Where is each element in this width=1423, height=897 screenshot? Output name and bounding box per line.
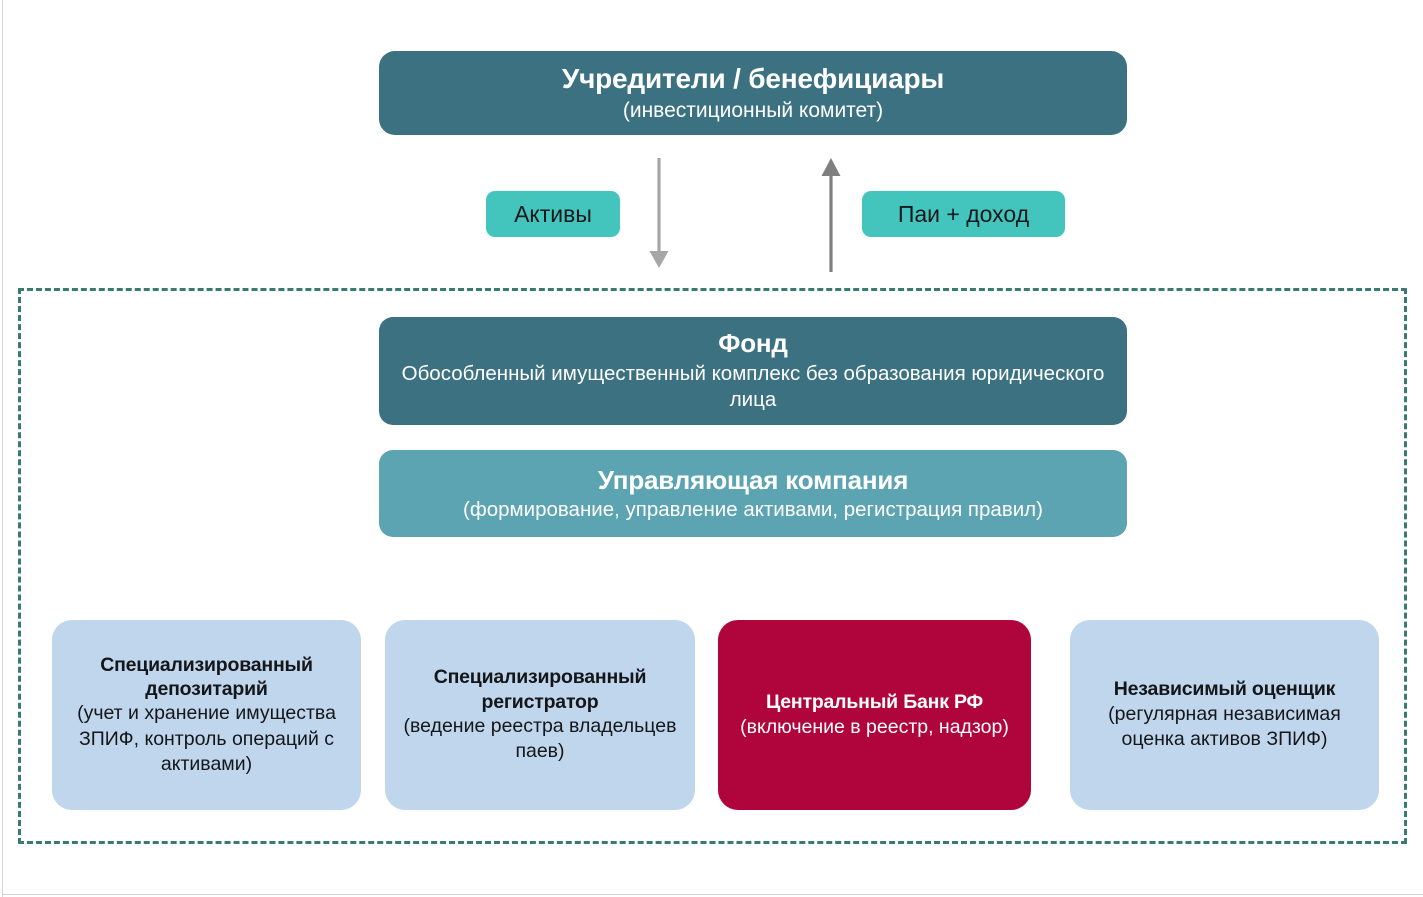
fund-box-title: Фонд <box>718 328 787 360</box>
specialized-depositary-box: Специализированный депозитарий (учет и х… <box>52 620 361 810</box>
specialized-registrar-title: Специализированный регистратор <box>395 665 685 714</box>
flow-label-units-income-text: Паи + доход <box>898 201 1029 228</box>
page-edge-line-left <box>2 0 3 897</box>
central-bank-rf-subtitle: (включение в реестр, надзор) <box>740 715 1009 740</box>
independent-appraiser-box: Независимый оценщик (регулярная независи… <box>1070 620 1379 810</box>
management-company-subtitle: (формирование, управление активами, реги… <box>463 497 1043 522</box>
management-company-box: Управляющая компания (формирование, упра… <box>379 450 1127 537</box>
specialized-depositary-title: Специализированный депозитарий <box>62 653 351 702</box>
specialized-registrar-subtitle: (ведение реестра владельцев паев) <box>395 714 685 765</box>
founders-box-title: Учредители / бенефициары <box>562 62 944 96</box>
founders-box-subtitle: (инвестиционный комитет) <box>623 98 883 124</box>
specialized-depositary-subtitle: (учет и хранение имущества ЗПИФ, контрол… <box>62 701 351 777</box>
page-edge-line-bottom <box>2 894 1423 895</box>
fund-box: Фонд Обособленный имущественный комплекс… <box>379 317 1127 425</box>
diagram-canvas: Учредители / бенефициары (инвестиционный… <box>0 0 1423 897</box>
independent-appraiser-subtitle: (регулярная независимая оценка активов З… <box>1080 702 1369 753</box>
management-company-title: Управляющая компания <box>598 465 908 497</box>
founders-beneficiaries-box: Учредители / бенефициары (инвестиционный… <box>379 51 1127 135</box>
flow-label-assets-text: Активы <box>514 201 592 228</box>
central-bank-rf-box: Центральный Банк РФ (включение в реестр,… <box>718 620 1031 810</box>
fund-box-subtitle: Обособленный имущественный комплекс без … <box>393 361 1113 413</box>
specialized-registrar-box: Специализированный регистратор (ведение … <box>385 620 695 810</box>
arrow-down-icon <box>646 156 672 277</box>
arrow-up-icon <box>818 156 844 279</box>
independent-appraiser-title: Независимый оценщик <box>1114 677 1335 701</box>
flow-label-units-income: Паи + доход <box>862 191 1065 237</box>
flow-label-assets: Активы <box>486 191 620 237</box>
central-bank-rf-title: Центральный Банк РФ <box>766 690 983 714</box>
